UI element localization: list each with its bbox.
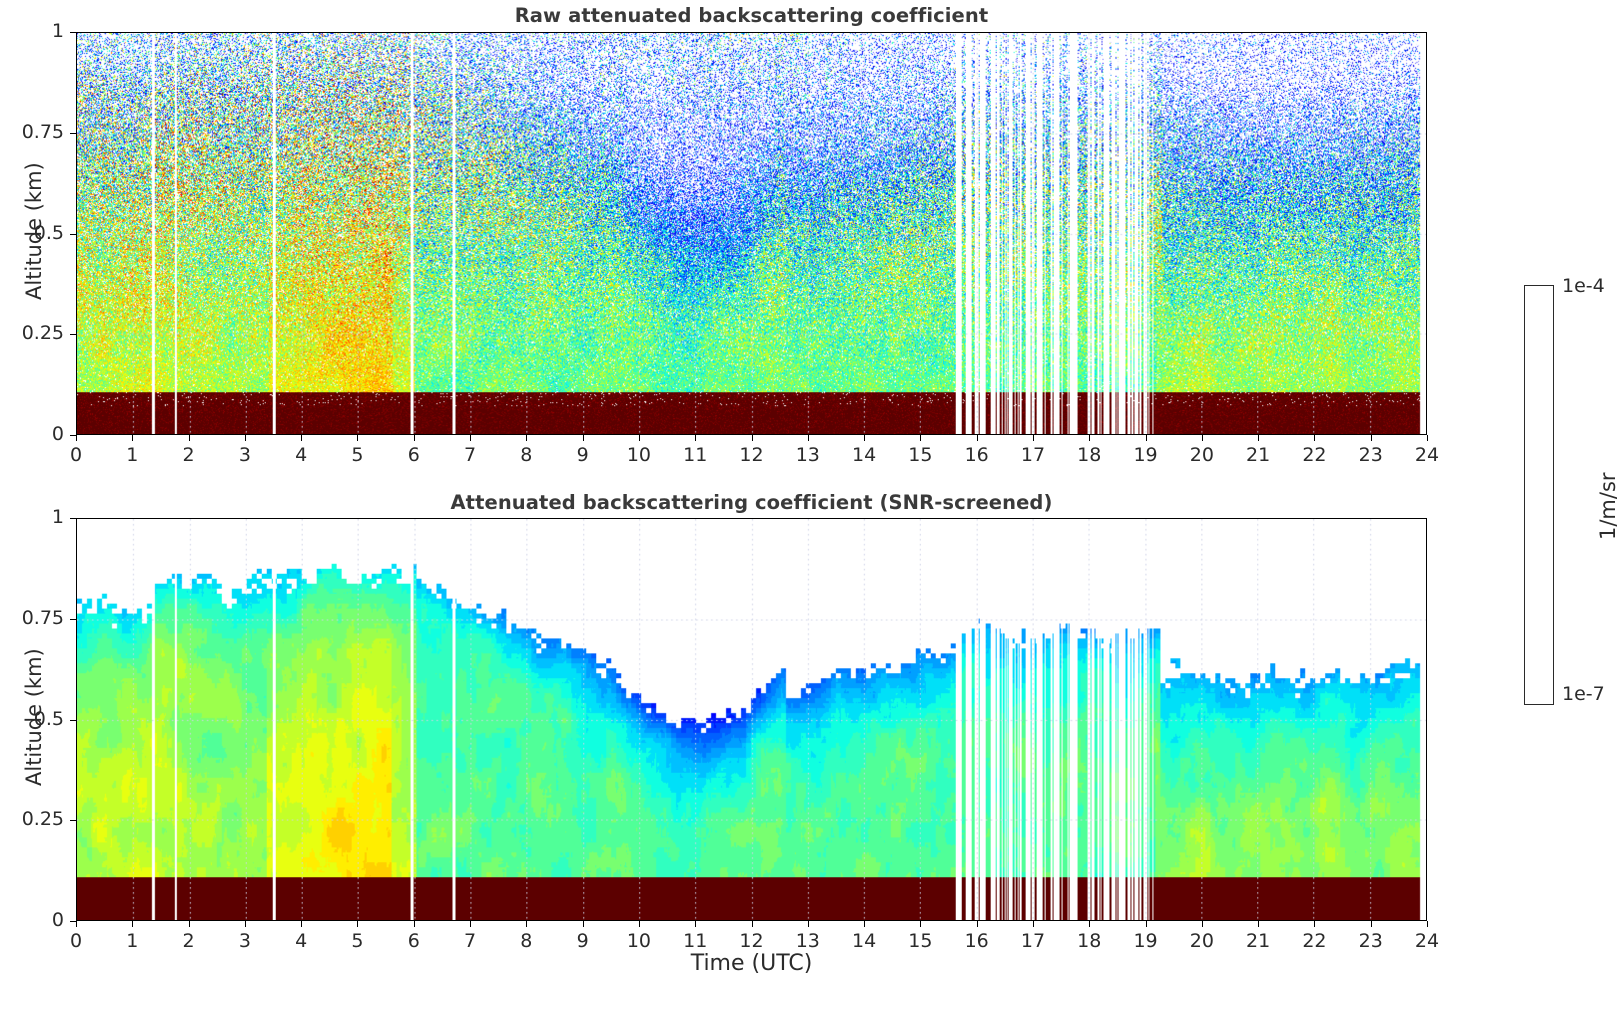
x-tickmark [977,921,978,927]
x-tickmark [864,435,865,441]
x-tickmark [583,435,584,441]
x-tick-label: 4 [281,444,321,466]
x-tickmark [301,921,302,927]
x-tickmark [470,921,471,927]
x-tick-label: 22 [1294,930,1334,952]
x-tick-label: 10 [619,444,659,466]
x-tick-label: 3 [225,930,265,952]
x-tick-label: 24 [1407,444,1447,466]
colorbar-gradient [1524,285,1554,705]
x-tick-label: 9 [563,930,603,952]
heatmap-raw [77,33,1426,434]
x-tickmark [1258,435,1259,441]
x-tick-label: 1 [112,444,152,466]
x-tick-label: 7 [450,930,490,952]
panel-raw [76,32,1427,435]
x-tick-label: 12 [732,444,772,466]
x-tickmark [752,435,753,441]
x-tick-label: 5 [337,444,377,466]
x-tickmark [864,921,865,927]
x-tickmark [1202,921,1203,927]
panel-title-raw: Raw attenuated backscattering coefficien… [76,4,1427,27]
x-tick-label: 19 [1126,930,1166,952]
x-tickmark [301,435,302,441]
x-tick-label: 20 [1182,930,1222,952]
x-tick-label: 6 [394,930,434,952]
y-tickmark [70,334,76,335]
figure-canvas: Raw attenuated backscattering coefficien… [0,0,1621,1020]
y-tick-label: 0.25 [2,322,64,344]
x-tick-label: 15 [900,444,940,466]
y-tickmark [70,921,76,922]
x-tick-label: 4 [281,930,321,952]
x-tickmark [1033,921,1034,927]
x-tickmark [189,921,190,927]
x-tick-label: 21 [1238,930,1278,952]
x-tick-label: 3 [225,444,265,466]
y-tick-label: 0.5 [2,708,64,730]
y-tickmark [70,518,76,519]
x-tickmark [76,435,77,441]
x-tick-label: 24 [1407,930,1447,952]
x-tick-label: 18 [1069,444,1109,466]
x-tickmark [414,435,415,441]
x-tick-label: 9 [563,444,603,466]
x-tickmark [1427,921,1428,927]
x-tickmark [76,921,77,927]
x-tick-label: 16 [957,930,997,952]
x-tick-label: 1 [112,930,152,952]
x-tick-label: 2 [169,444,209,466]
x-tick-label: 2 [169,930,209,952]
x-axis-label: Time (UTC) [76,951,1427,976]
x-tick-label: 17 [1013,930,1053,952]
x-tickmark [752,921,753,927]
axes-frame-raw [76,32,1427,435]
x-tick-label: 11 [675,930,715,952]
x-tick-label: 16 [957,444,997,466]
x-tick-label: 18 [1069,930,1109,952]
y-tick-label: 1 [2,20,64,42]
x-tickmark [920,435,921,441]
y-tick-label: 0.75 [2,607,64,629]
y-tickmark [70,619,76,620]
y-tickmark [70,435,76,436]
x-tickmark [357,435,358,441]
y-tick-label: 1 [2,506,64,528]
x-tickmark [1427,435,1428,441]
x-tickmark [977,435,978,441]
axes-frame-screened [76,518,1427,921]
x-tickmark [1202,435,1203,441]
x-tickmark [1371,435,1372,441]
x-tick-label: 11 [675,444,715,466]
x-tickmark [1146,435,1147,441]
x-tick-label: 5 [337,930,377,952]
x-tick-label: 13 [788,444,828,466]
x-tick-label: 23 [1351,930,1391,952]
y-tickmark [70,820,76,821]
x-tickmark [132,921,133,927]
x-tickmark [1089,921,1090,927]
y-tick-label: 0 [2,423,64,445]
x-tickmark [1089,435,1090,441]
x-tickmark [808,921,809,927]
x-tick-label: 23 [1351,444,1391,466]
y-tick-label: 0.25 [2,808,64,830]
x-tick-label: 8 [506,930,546,952]
x-tick-label: 17 [1013,444,1053,466]
x-tick-label: 0 [56,444,96,466]
y-tick-label: 0.5 [2,222,64,244]
colorbar-max-label: 1e-4 [1562,275,1605,297]
y-tick-label: 0.75 [2,121,64,143]
x-tickmark [583,921,584,927]
heatmap-screened [77,519,1426,920]
x-tick-label: 22 [1294,444,1334,466]
x-tickmark [189,435,190,441]
x-tick-label: 20 [1182,444,1222,466]
x-tick-label: 0 [56,930,96,952]
x-tick-label: 19 [1126,444,1166,466]
panel-screened [76,518,1427,921]
x-tickmark [1314,921,1315,927]
x-tick-label: 10 [619,930,659,952]
x-tickmark [1146,921,1147,927]
x-tickmark [808,435,809,441]
x-tickmark [1371,921,1372,927]
y-tickmark [70,720,76,721]
x-tick-label: 8 [506,444,546,466]
x-tickmark [245,435,246,441]
colorbar [1524,285,1554,705]
x-tick-label: 14 [844,930,884,952]
x-tickmark [526,921,527,927]
x-tick-label: 7 [450,444,490,466]
x-tick-label: 21 [1238,444,1278,466]
panel-title-screened: Attenuated backscattering coefficient (S… [76,491,1427,514]
x-tickmark [526,435,527,441]
colorbar-unit-label: 1/m/sr [1596,472,1620,540]
colorbar-min-label: 1e-7 [1562,683,1605,705]
y-tickmark [70,32,76,33]
x-tick-label: 13 [788,930,828,952]
x-tick-label: 6 [394,444,434,466]
x-tick-label: 15 [900,930,940,952]
x-tickmark [695,921,696,927]
x-tickmark [414,921,415,927]
x-tickmark [1258,921,1259,927]
x-tickmark [357,921,358,927]
x-tickmark [639,921,640,927]
x-tick-label: 12 [732,930,772,952]
x-tickmark [920,921,921,927]
x-tickmark [245,921,246,927]
x-tickmark [132,435,133,441]
x-tickmark [1314,435,1315,441]
y-tick-label: 0 [2,909,64,931]
x-tick-label: 14 [844,444,884,466]
x-tickmark [695,435,696,441]
x-tickmark [1033,435,1034,441]
x-tickmark [639,435,640,441]
y-tickmark [70,234,76,235]
y-tickmark [70,133,76,134]
x-tickmark [470,435,471,441]
